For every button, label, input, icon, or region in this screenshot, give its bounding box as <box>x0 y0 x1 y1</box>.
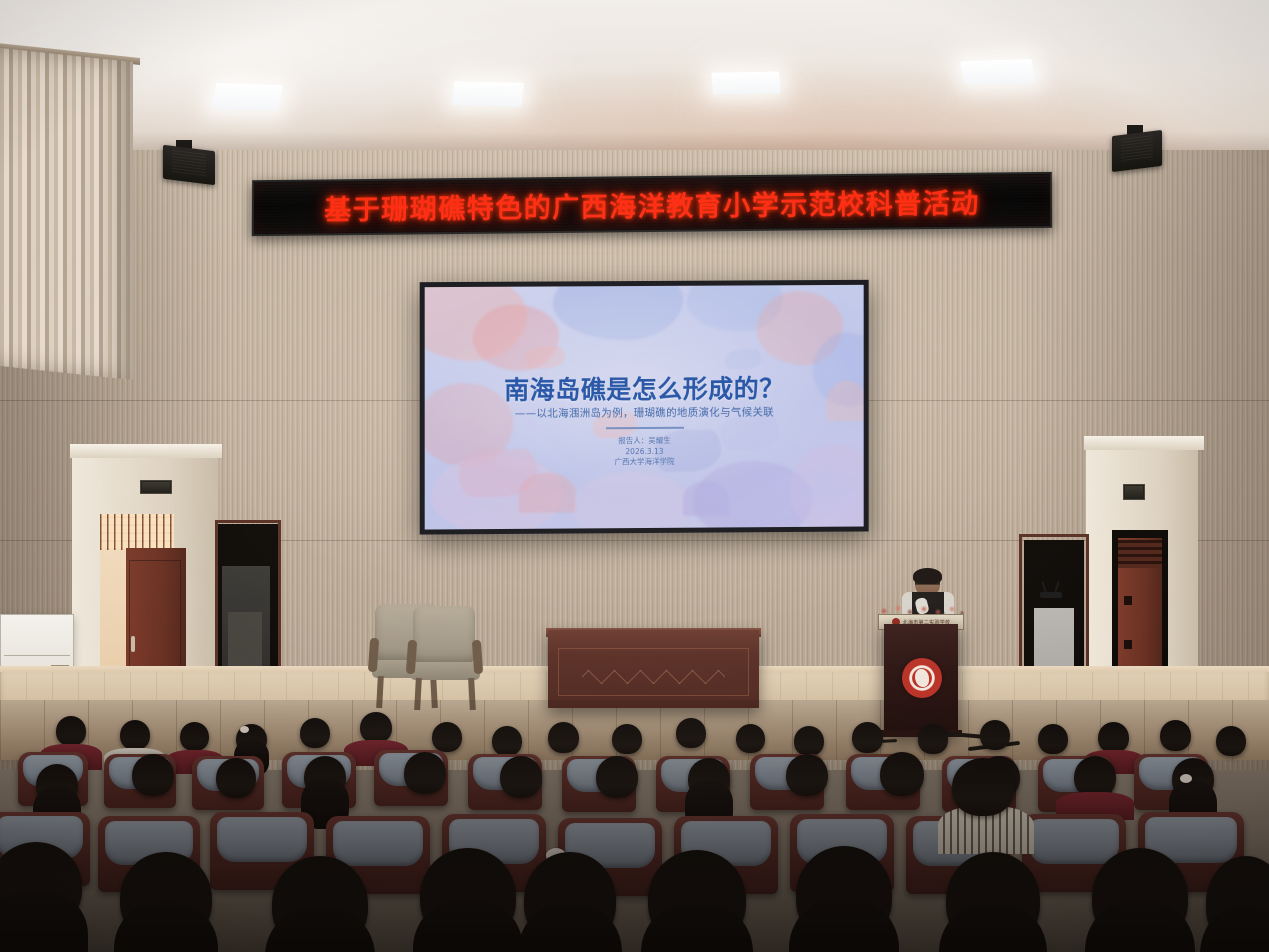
audience-head <box>736 724 765 753</box>
audience-head <box>36 764 78 806</box>
audience-head <box>180 722 209 751</box>
audience-head <box>952 758 1014 816</box>
right-door-stud <box>1124 596 1132 605</box>
slide-subtitle: ——以北海涠洲岛为例，珊瑚礁的地质演化与气候关联 <box>425 404 864 422</box>
ceiling-light-panel <box>960 59 1036 86</box>
led-banner-text: 基于珊瑚礁特色的广西海洋教育小学示范校科普活动 <box>324 181 980 227</box>
audience-head <box>548 722 579 753</box>
audience-head <box>1160 720 1191 751</box>
audience-head <box>360 712 392 743</box>
audience-head <box>500 756 542 798</box>
right-door-louvers <box>1118 540 1162 568</box>
stage-table <box>548 630 759 708</box>
slide-divider <box>605 427 683 429</box>
coral-fan <box>683 481 729 515</box>
audience-head <box>432 722 462 752</box>
audience-head <box>304 756 346 798</box>
audience-head <box>786 754 828 796</box>
audience-head <box>1038 724 1068 754</box>
audience-head <box>796 846 892 944</box>
wireless-router-icon <box>1040 592 1062 598</box>
audience-head <box>612 724 642 754</box>
audience-head <box>880 752 924 796</box>
exit-sign <box>140 480 172 494</box>
cabinet-seam <box>4 655 70 656</box>
coral-fan <box>519 472 575 512</box>
left-door-transom-grille <box>100 514 174 550</box>
audience-head <box>272 856 368 952</box>
slide-title: 南海岛礁是怎么形成的？ <box>425 369 864 408</box>
fish-shape <box>525 346 565 368</box>
right-door-stud <box>1124 640 1132 649</box>
audience-head <box>596 756 638 798</box>
ceiling-light-panel <box>452 81 524 106</box>
led-banner: 基于珊瑚礁特色的广西海洋教育小学示范校科普活动 <box>252 172 1052 236</box>
audience-head <box>1216 726 1246 756</box>
ceiling-light-panel <box>210 83 283 111</box>
audience-head <box>56 716 86 746</box>
coral-blob <box>553 285 683 341</box>
hair-clip <box>1180 774 1192 783</box>
exit-sign-face <box>142 482 170 492</box>
table-zigzag-moulding <box>582 670 726 684</box>
audience-head <box>688 758 730 800</box>
audience-head <box>404 752 446 794</box>
slide-meta-block: 报告人：吴耀生 2026.3.13 广西大学海洋学院 <box>425 435 864 469</box>
wall-speaker-icon <box>1112 130 1162 172</box>
audience-head <box>852 722 883 753</box>
audience-head <box>980 720 1010 750</box>
audience-head <box>1092 848 1188 946</box>
audience-head <box>918 724 948 754</box>
wall-speaker-icon <box>163 145 215 185</box>
coral-blob <box>571 472 691 530</box>
audience-head <box>120 720 150 750</box>
audience-head <box>492 726 522 756</box>
exit-sign-face <box>1125 486 1143 498</box>
presentation-slide: 南海岛礁是怎么形成的？ ——以北海涠洲岛为例，珊瑚礁的地质演化与气候关联 报告人… <box>425 285 864 530</box>
audience-head <box>132 754 174 796</box>
audience-head <box>794 726 824 756</box>
table-front-panel <box>558 648 749 696</box>
audience-head <box>946 852 1040 948</box>
left-pillar-cap <box>70 444 222 458</box>
audience-head <box>1172 758 1214 800</box>
audience-head <box>0 842 82 930</box>
audience-head <box>300 718 330 748</box>
audience-head <box>648 850 746 948</box>
auditorium-photo: 基于珊瑚礁特色的广西海洋教育小学示范校科普活动 <box>0 0 1269 952</box>
right-pillar-cap <box>1084 436 1204 450</box>
audience-head <box>676 718 706 748</box>
hair-clip <box>240 726 249 733</box>
projection-screen: 南海岛礁是怎么形成的？ ——以北海涠洲岛为例，珊瑚礁的地质演化与气候关联 报告人… <box>420 280 869 535</box>
audience-head <box>1098 722 1129 753</box>
audience-head <box>420 848 516 944</box>
fish-shape <box>725 349 761 369</box>
audience-head <box>120 852 212 944</box>
exit-sign <box>1123 484 1145 500</box>
presenter-hair <box>913 568 942 584</box>
left-door-handle-icon[interactable] <box>131 636 135 652</box>
audience-head <box>524 852 616 948</box>
ceiling-light-panel <box>711 71 780 94</box>
audience-head <box>216 758 256 798</box>
school-emblem-icon <box>902 658 942 698</box>
window-curtain <box>0 48 133 380</box>
audience-seating <box>0 700 1269 952</box>
